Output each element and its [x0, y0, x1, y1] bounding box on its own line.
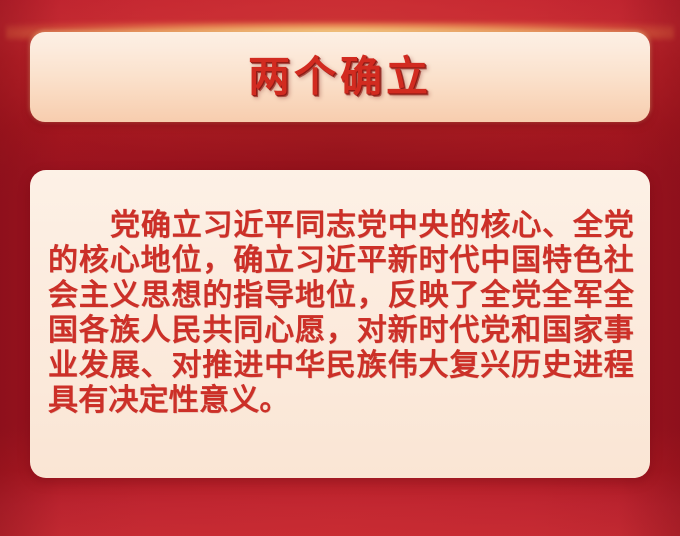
poster-root: 两个确立 党确立习近平同志党中央的核心、全党的核心地位，确立习近平新时代中国特色… — [0, 0, 680, 536]
title-card: 两个确立 — [30, 32, 650, 122]
poster-title: 两个确立 — [248, 56, 432, 98]
body-card: 党确立习近平同志党中央的核心、全党的核心地位，确立习近平新时代中国特色社会主义思… — [30, 170, 650, 478]
poster-body-text: 党确立习近平同志党中央的核心、全党的核心地位，确立习近平新时代中国特色社会主义思… — [48, 208, 634, 418]
